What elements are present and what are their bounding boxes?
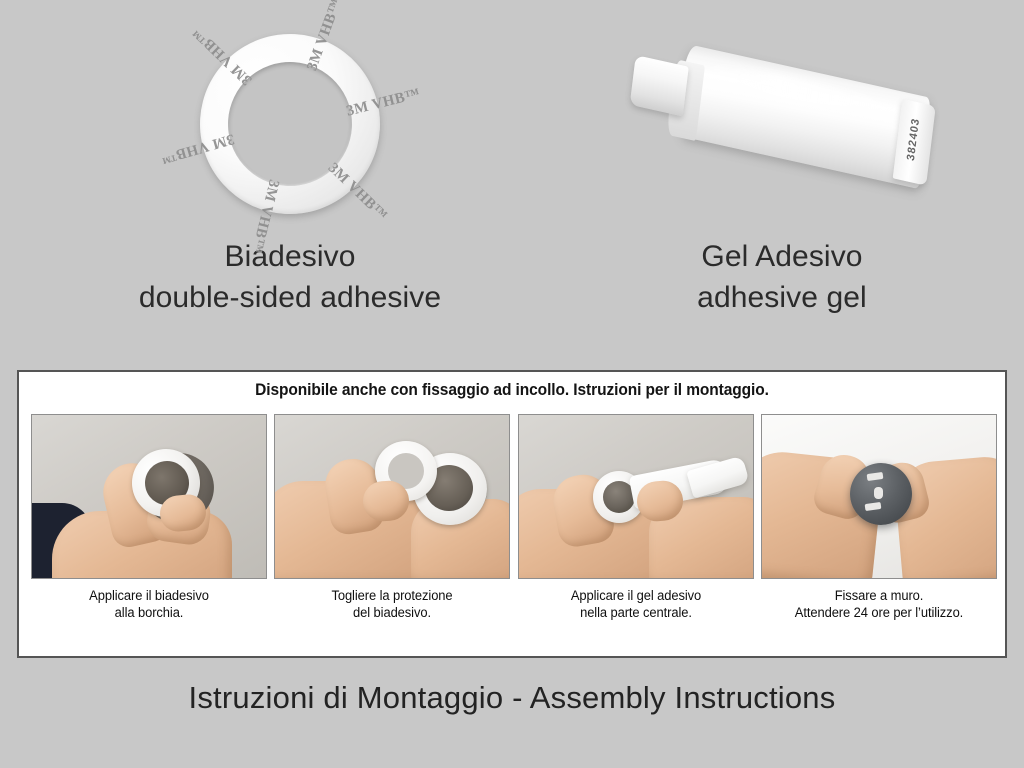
instruction-panel-heading: Disponibile anche con fissaggio ad incol… xyxy=(49,381,976,400)
step-caption-line1: Togliere la protezione xyxy=(279,587,506,604)
step-caption-line2: del biadesivo. xyxy=(279,604,506,621)
product-biadesivo-art: 3M VHB™ 3M VHB™ 3M VHB™ 3M VHB™ 3M VHB™ … xyxy=(30,18,550,236)
instruction-panel: Disponibile anche con fissaggio ad incol… xyxy=(17,370,1007,658)
instruction-step: Applicare il biadesivo alla borchia. xyxy=(31,414,267,622)
product-biadesivo-name-en: double-sided adhesive xyxy=(30,277,550,318)
instruction-step: Applicare il gel adesivo nella parte cen… xyxy=(518,414,754,622)
instruction-steps-row: Applicare il biadesivo alla borchia. xyxy=(31,414,997,622)
tube-cap xyxy=(630,55,689,116)
instruction-step-caption: Applicare il gel adesivo nella parte cen… xyxy=(522,587,749,622)
tube-body xyxy=(676,44,930,189)
step-caption-line1: Fissare a muro. xyxy=(766,587,993,604)
adhesive-ring-icon: 3M VHB™ 3M VHB™ 3M VHB™ 3M VHB™ 3M VHB™ … xyxy=(188,22,391,225)
product-biadesivo-name-it: Biadesivo xyxy=(30,236,550,277)
product-gel-adesivo-label: Gel Adesivo adhesive gel xyxy=(560,236,1004,319)
instruction-step-caption: Togliere la protezione del biadesivo. xyxy=(279,587,506,622)
product-gel-adesivo: 382403 Gel Adesivo adhesive gel xyxy=(560,18,1004,319)
step-caption-line2: alla borchia. xyxy=(36,604,263,621)
instruction-step: Togliere la protezione del biadesivo. xyxy=(274,414,510,622)
photo-apply-gel-to-center xyxy=(518,414,754,579)
product-showcase-row: 3M VHB™ 3M VHB™ 3M VHB™ 3M VHB™ 3M VHB™ … xyxy=(0,0,1024,360)
adhesive-gel-tube-icon: 382403 xyxy=(615,43,949,213)
photo-apply-adhesive-to-knob xyxy=(31,414,267,579)
tube-highlight xyxy=(697,57,896,122)
product-gel-adesivo-name-en: adhesive gel xyxy=(560,277,1004,318)
product-biadesivo-label: Biadesivo double-sided adhesive xyxy=(30,236,550,319)
step-caption-line1: Applicare il gel adesivo xyxy=(522,587,749,604)
instruction-step-caption: Applicare il biadesivo alla borchia. xyxy=(36,587,263,622)
page-title: Istruzioni di Montaggio - Assembly Instr… xyxy=(0,680,1024,716)
photo-remove-adhesive-backing xyxy=(274,414,510,579)
product-gel-adesivo-name-it: Gel Adesivo xyxy=(560,236,1004,277)
photo-fix-knob-to-wall xyxy=(761,414,997,579)
instruction-step: Fissare a muro. Attendere 24 ore per l’u… xyxy=(761,414,997,622)
step-caption-line1: Applicare il biadesivo xyxy=(36,587,263,604)
product-biadesivo: 3M VHB™ 3M VHB™ 3M VHB™ 3M VHB™ 3M VHB™ … xyxy=(30,18,550,319)
product-gel-adesivo-art: 382403 xyxy=(560,18,1004,236)
step-caption-line2: nella parte centrale. xyxy=(522,604,749,621)
step-caption-line2: Attendere 24 ore per l’utilizzo. xyxy=(766,604,993,621)
instruction-step-caption: Fissare a muro. Attendere 24 ore per l’u… xyxy=(766,587,993,622)
